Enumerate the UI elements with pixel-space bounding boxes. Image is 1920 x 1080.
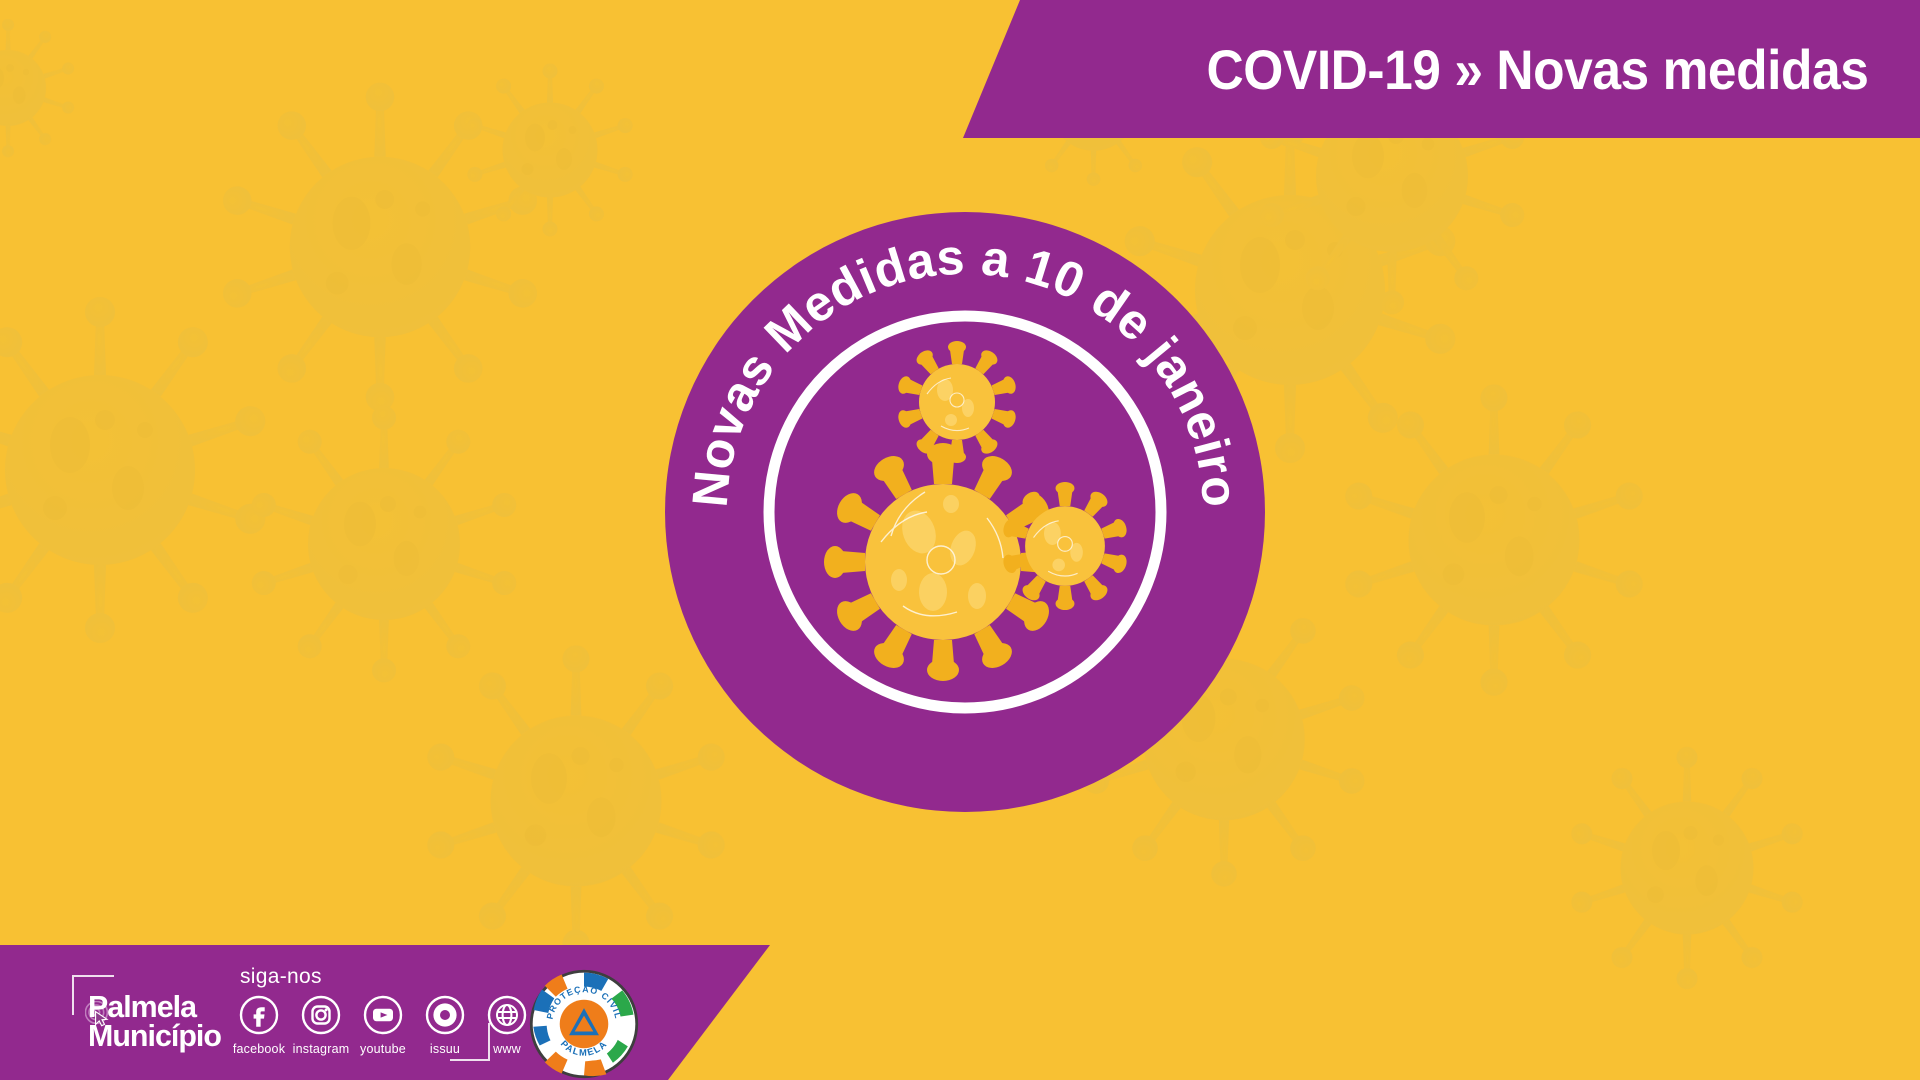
follow-us-label: siga-nos [240, 965, 322, 989]
central-badge: Novas Medidas a 10 de janeiro [665, 212, 1265, 812]
social-link-youtube[interactable]: youtube [357, 995, 409, 1056]
footer-bracket-decoration [450, 1023, 490, 1061]
globe-www-icon [487, 995, 527, 1035]
palmela-municipio-logo[interactable]: Palmela Município [72, 975, 232, 1055]
social-links-row: facebook instagram youtube [233, 995, 543, 1056]
brand-line-2: Município [88, 1022, 221, 1051]
social-label-youtube: youtube [360, 1042, 406, 1056]
social-link-facebook[interactable]: facebook [233, 995, 285, 1056]
brand-wordmark: Palmela Município [88, 993, 221, 1050]
instagram-icon [301, 995, 341, 1035]
protecao-civil-palmela-emblem: PROTEÇÃO CIVIL PALMELA [528, 968, 640, 1080]
social-label-www: www [493, 1042, 521, 1056]
social-link-instagram[interactable]: instagram [295, 995, 347, 1056]
social-label-facebook: facebook [233, 1042, 285, 1056]
youtube-icon [363, 995, 403, 1035]
page-title: COVID-19 » Novas medidas [1206, 0, 1868, 138]
facebook-icon [239, 995, 279, 1035]
footer-content: siga-nos Palmela Município facebook [0, 945, 780, 1080]
social-label-instagram: instagram [293, 1042, 350, 1056]
